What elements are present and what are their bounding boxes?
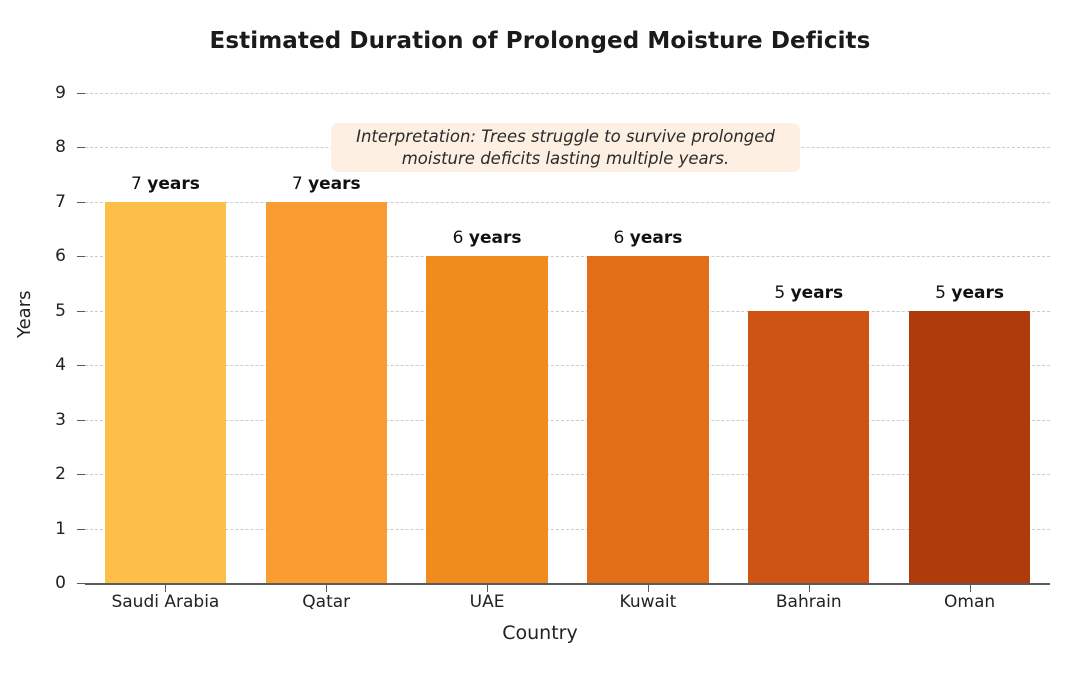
y-tick-mark [77, 583, 85, 584]
gridline [85, 529, 1050, 530]
bar-value-label: 7 years [246, 174, 407, 194]
x-tick-mark [970, 585, 971, 592]
x-tick-label: Kuwait [568, 592, 729, 612]
y-tick-mark [77, 474, 85, 475]
bar[interactable] [587, 256, 708, 583]
gridline [85, 420, 1050, 421]
y-tick-label: 4 [55, 355, 66, 375]
y-tick-label: 6 [55, 246, 66, 266]
y-tick-label: 1 [55, 519, 66, 539]
x-tick-mark [326, 585, 327, 592]
y-tick-label: 9 [55, 83, 66, 103]
y-tick-label: 2 [55, 464, 66, 484]
x-tick-label: Bahrain [728, 592, 889, 612]
x-tick-mark [809, 585, 810, 592]
y-tick-mark [77, 256, 85, 257]
bar-chart-figure: Estimated Duration of Prolonged Moisture… [0, 0, 1080, 682]
y-tick-mark [77, 529, 85, 530]
annotation-text: Interpretation: Trees struggle to surviv… [348, 126, 783, 170]
y-tick-mark [77, 202, 85, 203]
bar-value-label: 5 years [889, 283, 1050, 303]
bar[interactable] [909, 311, 1030, 583]
x-axis-label: Country [0, 622, 1080, 644]
y-tick-mark [77, 365, 85, 366]
y-tick-mark [77, 93, 85, 94]
y-tick-label: 7 [55, 192, 66, 212]
chart-title: Estimated Duration of Prolonged Moisture… [0, 28, 1080, 54]
bar[interactable] [426, 256, 547, 583]
x-tick-mark [648, 585, 649, 592]
bar[interactable] [105, 202, 226, 583]
y-tick-label: 0 [55, 573, 66, 593]
y-tick-label: 8 [55, 137, 66, 157]
x-tick-label: Oman [889, 592, 1050, 612]
bar[interactable] [266, 202, 387, 583]
x-tick-label: UAE [407, 592, 568, 612]
bar[interactable] [748, 311, 869, 583]
annotation-box: Interpretation: Trees struggle to surviv… [331, 123, 800, 172]
y-tick-mark [77, 420, 85, 421]
gridline [85, 365, 1050, 366]
bar-value-label: 6 years [407, 228, 568, 248]
gridline [85, 311, 1050, 312]
x-axis-spine [85, 583, 1050, 585]
x-tick-label: Saudi Arabia [85, 592, 246, 612]
bar-value-label: 6 years [568, 228, 729, 248]
gridline [85, 474, 1050, 475]
bar-value-label: 5 years [728, 283, 889, 303]
x-tick-mark [487, 585, 488, 592]
gridline [85, 256, 1050, 257]
bar-value-label: 7 years [85, 174, 246, 194]
gridline [85, 93, 1050, 94]
y-tick-mark [77, 147, 85, 148]
y-tick-label: 5 [55, 301, 66, 321]
x-tick-label: Qatar [246, 592, 407, 612]
gridline [85, 202, 1050, 203]
x-tick-mark [165, 585, 166, 592]
y-tick-mark [77, 311, 85, 312]
y-tick-label: 3 [55, 410, 66, 430]
y-axis-label: Years [14, 291, 35, 339]
